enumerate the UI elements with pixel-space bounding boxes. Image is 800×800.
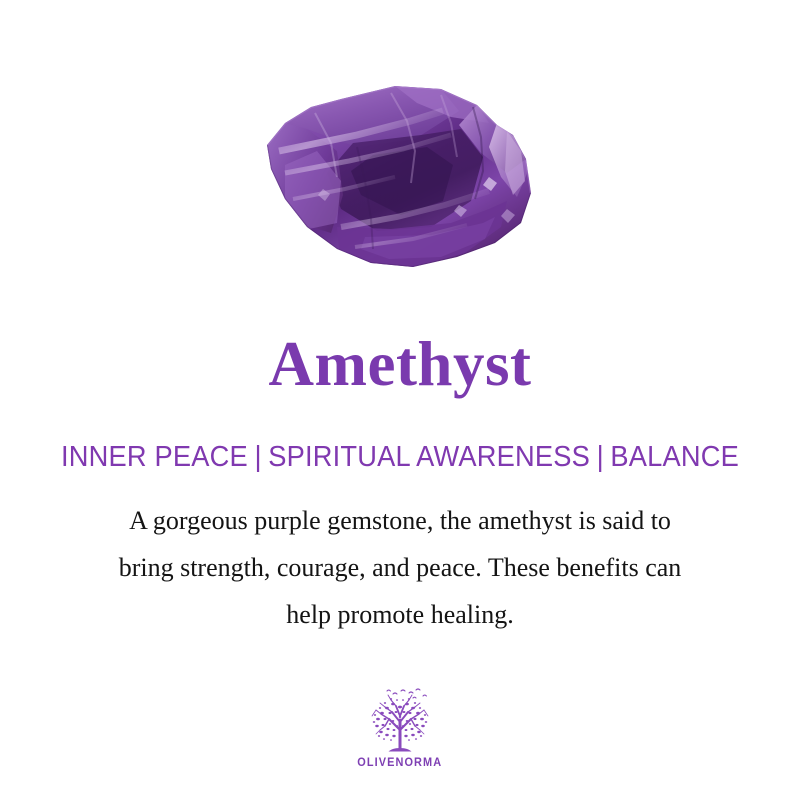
description-line-2: bring strength, courage, and peace. Thes…: [50, 544, 750, 591]
amethyst-gemstone-illustration: [245, 77, 555, 282]
attribute-inner-peace: INNER PEACE: [61, 441, 248, 474]
description-line-3: help promote healing.: [50, 591, 750, 638]
attribute-separator-1: |: [248, 441, 268, 474]
product-title: Amethyst: [0, 330, 800, 398]
product-info-card: Amethyst INNER PEACE|SPIRITUAL AWARENESS…: [0, 0, 800, 800]
product-description: A gorgeous purple gemstone, the amethyst…: [50, 497, 750, 638]
brand-logo: OLIVENORMA: [0, 686, 800, 769]
attribute-list: INNER PEACE|SPIRITUAL AWARENESS|BALANCE: [24, 441, 776, 474]
amethyst-gemstone-image: [0, 72, 800, 287]
attribute-separator-2: |: [590, 441, 610, 474]
description-line-1: A gorgeous purple gemstone, the amethyst…: [50, 497, 750, 544]
brand-name: OLIVENORMA: [358, 757, 443, 769]
attribute-spiritual-awareness: SPIRITUAL AWARENESS: [268, 441, 590, 474]
attribute-balance: BALANCE: [610, 441, 739, 474]
tree-of-life-icon: [363, 686, 437, 754]
